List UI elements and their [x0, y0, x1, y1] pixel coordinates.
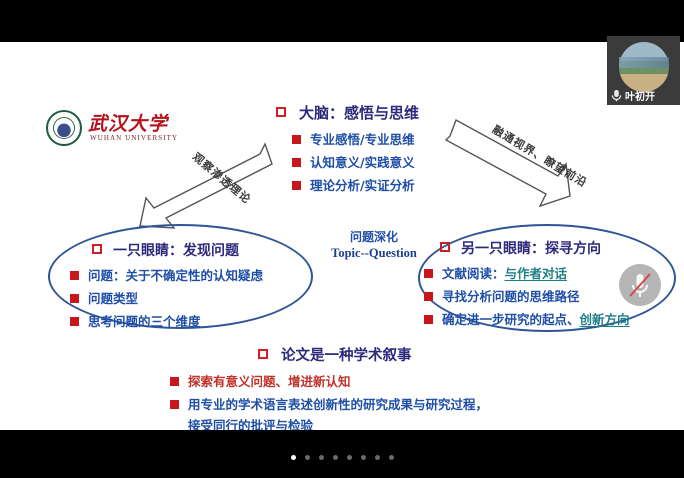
list-item: 确定进一步研究的起点、创新方向: [424, 309, 676, 328]
pagination-dots[interactable]: [0, 455, 684, 460]
right-eye-item1: 文献阅读：与作者对话: [442, 263, 567, 282]
bottom-item2-line1: 用专业的学术语言表述创新性的研究成果与研究过程，: [188, 394, 488, 413]
letterbox-top: [0, 0, 684, 42]
center-topic-label: 问题深化 Topic--Question: [318, 228, 430, 261]
right-eye-header: 另一只眼睛：探寻方向: [424, 238, 676, 258]
pagination-dot[interactable]: [389, 455, 394, 460]
left-eye-item-label: 问题：关于不确定性的认知疑虑: [88, 265, 263, 284]
brain-block: 大脑：感悟与思维 专业感悟/专业思维 认知意义/实践意义 理论分析/实证分析: [276, 102, 419, 198]
meeting-screen: 武汉大学 WUHAN UNIVERSITY 大脑：感悟与思维 专业感悟/专业思维…: [0, 0, 684, 478]
center-line1: 问题深化: [318, 228, 430, 245]
pagination-dot[interactable]: [333, 455, 338, 460]
list-item: 用专业的学术语言表述创新性的研究成果与研究过程，: [170, 394, 590, 413]
list-item: 问题：关于不确定性的认知疑虑: [70, 265, 305, 284]
list-item: 问题类型: [70, 288, 305, 307]
solid-square-bullet-icon: [170, 400, 179, 409]
solid-square-bullet-icon: [170, 377, 179, 386]
avatar: [619, 42, 669, 92]
right-eye-item1-prefix: 文献阅读：: [442, 266, 505, 281]
brain-item-label: 理论分析/实证分析: [310, 175, 415, 194]
left-eye-header: 一只眼睛：发现问题: [70, 240, 305, 260]
pagination-dot[interactable]: [347, 455, 352, 460]
list-item: 思考问题的三个维度: [70, 311, 305, 330]
brain-item-label: 专业感悟/专业思维: [310, 129, 415, 148]
hollow-square-bullet-icon: [258, 349, 268, 359]
right-eye-header-label: 另一只眼睛：探寻方向: [461, 241, 601, 257]
hollow-square-bullet-icon: [276, 107, 286, 117]
solid-square-bullet-icon: [70, 271, 79, 280]
pagination-dot[interactable]: [375, 455, 380, 460]
left-eye-item-label: 问题类型: [88, 288, 138, 307]
solid-square-bullet-icon: [292, 135, 301, 144]
solid-square-bullet-icon: [292, 181, 301, 190]
bottom-header: 论文是一种学术叙事: [170, 344, 590, 365]
solid-square-bullet-icon: [424, 315, 433, 324]
left-eye-header-label: 一只眼睛：发现问题: [113, 243, 239, 259]
right-eye-item3: 确定进一步研究的起点、创新方向: [442, 309, 630, 328]
center-line2: Topic--Question: [318, 246, 430, 261]
list-item: 理论分析/实证分析: [292, 175, 419, 194]
left-eye-item-label: 思考问题的三个维度: [88, 311, 201, 330]
list-item: 专业感悟/专业思维: [292, 129, 419, 148]
list-item: 认知意义/实践意义: [292, 152, 419, 171]
brain-header: 大脑：感悟与思维: [276, 102, 419, 123]
solid-square-bullet-icon: [292, 158, 301, 167]
right-eye-item2: 寻找分析问题的思维路径: [442, 286, 580, 305]
bottom-item2-line2: 接受同行的批评与检验: [188, 418, 313, 430]
bottom-item1: 探索有意义问题、增进新认知: [188, 371, 351, 390]
list-item: 探索有意义问题、增进新认知: [170, 371, 590, 390]
hollow-square-bullet-icon: [440, 242, 450, 252]
solid-square-bullet-icon: [424, 292, 433, 301]
bottom-block: 论文是一种学术叙事 探索有意义问题、增进新认知 用专业的学术语言表述创新性的研究…: [170, 344, 590, 430]
hollow-square-bullet-icon: [92, 244, 102, 254]
right-eye-item3-prefix: 确定进一步研究的起点、: [442, 312, 580, 327]
participant-name-badge: 叶初开: [611, 88, 655, 103]
solid-square-bullet-icon: [70, 317, 79, 326]
pagination-dot[interactable]: [319, 455, 324, 460]
pagination-dot[interactable]: [361, 455, 366, 460]
right-eye-item1-link[interactable]: 与作者对话: [505, 266, 568, 281]
pagination-dot[interactable]: [291, 455, 296, 460]
participant-name: 叶初开: [625, 88, 655, 103]
letterbox-bottom: [0, 430, 684, 478]
university-emblem-icon: [46, 110, 82, 146]
microphone-muted-icon: [619, 264, 661, 306]
solid-square-bullet-icon: [70, 294, 79, 303]
solid-square-bullet-icon: [424, 269, 433, 278]
microphone-icon: [611, 89, 622, 102]
participant-video-tile[interactable]: 叶初开: [607, 36, 680, 105]
right-eye-item3-link[interactable]: 创新方向: [580, 312, 630, 327]
bottom-header-label: 论文是一种学术叙事: [281, 348, 412, 364]
logo-chinese-name: 武汉大学: [88, 109, 168, 136]
brain-item-label: 认知意义/实践意义: [310, 152, 415, 171]
presentation-slide[interactable]: 武汉大学 WUHAN UNIVERSITY 大脑：感悟与思维 专业感悟/专业思维…: [0, 42, 684, 430]
left-eye-block: 一只眼睛：发现问题 问题：关于不确定性的认知疑虑 问题类型 思考问题的三个维度: [70, 240, 305, 334]
pagination-dot[interactable]: [305, 455, 310, 460]
brain-header-label: 大脑：感悟与思维: [299, 104, 419, 122]
